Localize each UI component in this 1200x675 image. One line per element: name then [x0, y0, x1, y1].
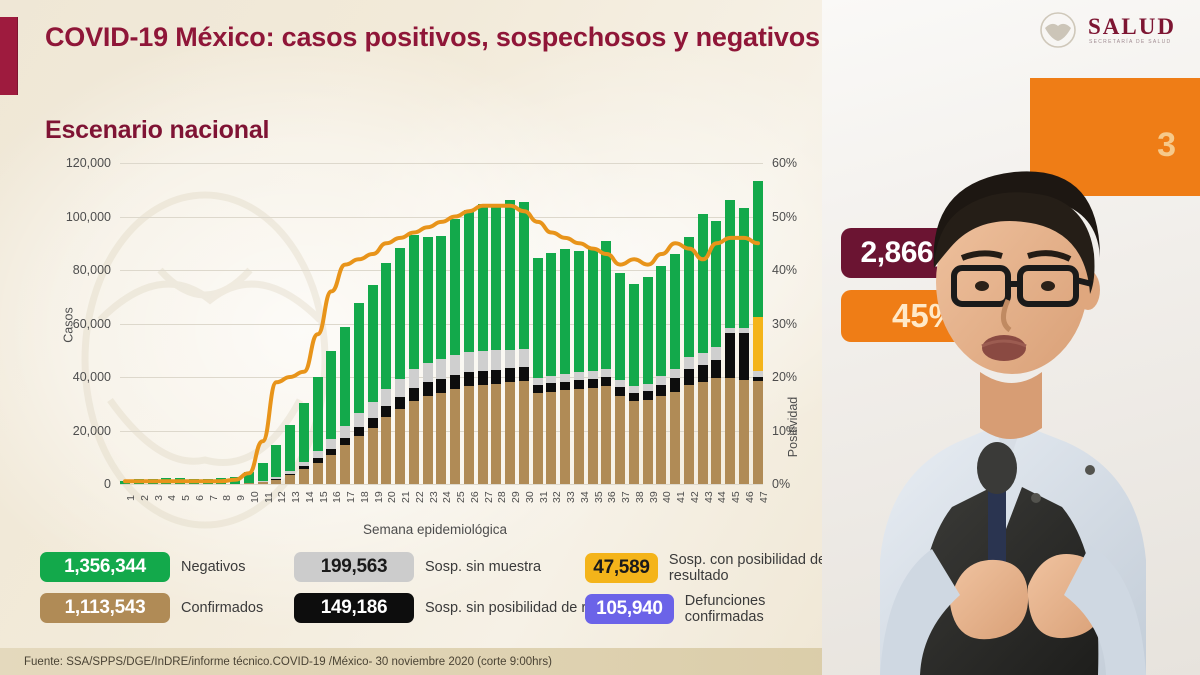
bar-segment	[271, 480, 281, 484]
bar-34	[574, 163, 584, 484]
bar-segment	[478, 204, 488, 351]
bar-segment	[409, 388, 419, 401]
bar-12	[271, 163, 281, 484]
y-tick-label: 120,000	[66, 156, 111, 170]
bar-37	[615, 163, 625, 484]
bar-segment	[629, 393, 639, 401]
legend-label-sosp-con-posibilidad: Sosp. con posibilidad de resultado	[669, 552, 830, 584]
bar-29	[505, 163, 515, 484]
bar-19	[368, 163, 378, 484]
bar-33	[560, 163, 570, 484]
y-tick-label: 100,000	[66, 210, 111, 224]
x-axis-ticks: 1234567891011121314151617181920212223242…	[120, 490, 763, 524]
bar-segment	[546, 376, 556, 383]
bar-46	[739, 163, 749, 484]
bar-segment	[381, 417, 391, 484]
bar-segment	[326, 455, 336, 484]
bar-segment	[670, 378, 680, 391]
bar-segment	[395, 379, 405, 397]
bar-segment	[189, 479, 199, 484]
bar-segment	[711, 378, 721, 484]
bar-segment	[615, 273, 625, 380]
bar-segment	[299, 469, 309, 484]
bar-segment	[588, 388, 598, 484]
y2-tick-label: 60%	[772, 156, 797, 170]
bar-segment	[244, 483, 254, 484]
y-tick-label: 60,000	[73, 317, 111, 331]
bar-32	[546, 163, 556, 484]
bar-segment	[203, 479, 213, 484]
bar-segment	[615, 387, 625, 396]
bar-segment	[340, 426, 350, 438]
bar-11	[258, 163, 268, 484]
bar-segment	[381, 389, 391, 406]
bar-26	[464, 163, 474, 484]
bar-segment	[134, 479, 144, 484]
bar-segment	[711, 347, 721, 360]
bar-segment	[478, 351, 488, 371]
bar-segment	[601, 369, 611, 377]
bar-segment	[230, 477, 240, 484]
bar-segment	[340, 445, 350, 484]
bar-7	[203, 163, 213, 484]
bar-segment	[258, 463, 268, 482]
bar-segment	[161, 478, 171, 484]
bar-segment	[175, 478, 185, 484]
x-axis-title: Semana epidemiológica	[45, 522, 825, 537]
bar-segment	[423, 396, 433, 484]
bar-segment	[285, 425, 295, 470]
y2-tick-label: 20%	[772, 370, 797, 384]
page-title: COVID-19 México: casos positivos, sospec…	[45, 22, 820, 53]
bar-segment	[340, 327, 350, 426]
bar-38	[629, 163, 639, 484]
bar-14	[299, 163, 309, 484]
legend-chip-defunciones: 105,940	[585, 594, 674, 624]
bar-segment	[670, 254, 680, 369]
bar-segment	[354, 413, 364, 427]
bar-segment	[533, 393, 543, 484]
bar-segment	[615, 396, 625, 484]
bar-segment	[519, 381, 529, 484]
bar-series-group	[120, 163, 763, 484]
video-panel: 3 SALUD SECRETARÍA DE SALUD	[822, 0, 1200, 675]
legend-chip-confirmados: 1,113,543	[40, 593, 170, 623]
legend-item-confirmados: 1,113,543 Confirmados	[40, 593, 263, 623]
bar-13	[285, 163, 295, 484]
bar-segment	[574, 372, 584, 379]
bar-segment	[615, 380, 625, 387]
bar-40	[656, 163, 666, 484]
bar-segment	[271, 445, 281, 477]
bar-segment	[464, 386, 474, 484]
bar-5	[175, 163, 185, 484]
bar-segment	[698, 214, 708, 353]
bar-segment	[656, 266, 666, 376]
bar-segment	[244, 472, 254, 483]
bar-segment	[574, 251, 584, 373]
bar-segment	[381, 406, 391, 417]
bar-segment	[519, 367, 529, 381]
bar-segment	[148, 479, 158, 484]
bar-segment	[684, 357, 694, 369]
bar-36	[601, 163, 611, 484]
bar-segment	[574, 389, 584, 484]
bar-43	[698, 163, 708, 484]
bar-39	[643, 163, 653, 484]
bar-segment	[601, 241, 611, 369]
bar-9	[230, 163, 240, 484]
plot-area: 020,00040,00060,00080,000100,000120,000 …	[120, 163, 763, 485]
legend-item-defunciones: 105,940 Defunciones confirmadas	[585, 593, 830, 625]
bar-segment	[643, 400, 653, 484]
bar-segment	[629, 284, 639, 386]
bar-segment	[464, 210, 474, 352]
bar-segment	[395, 397, 405, 409]
presenter-figure	[822, 0, 1200, 675]
bar-segment	[533, 378, 543, 385]
bar-segment	[739, 333, 749, 380]
bar-segment	[684, 369, 694, 385]
y2-tick-label: 30%	[772, 317, 797, 331]
bar-segment	[546, 253, 556, 376]
bar-segment	[491, 384, 501, 484]
bar-segment	[725, 333, 735, 378]
bar-segment	[491, 206, 501, 350]
bar-segment	[216, 478, 226, 484]
bar-segment	[629, 401, 639, 484]
bar-17	[340, 163, 350, 484]
bar-segment	[698, 353, 708, 365]
bar-segment	[601, 377, 611, 386]
bar-segment	[698, 365, 708, 382]
bar-segment	[423, 237, 433, 363]
bar-segment	[464, 372, 474, 386]
bar-24	[436, 163, 446, 484]
bar-segment	[698, 382, 708, 484]
bar-segment	[546, 392, 556, 484]
bar-segment	[478, 385, 488, 484]
bar-22	[409, 163, 419, 484]
legend-label-defunciones: Defunciones confirmadas	[685, 593, 830, 625]
bar-segment	[478, 371, 488, 385]
y2-tick-label: 40%	[772, 263, 797, 277]
left-accent-bar	[0, 17, 18, 95]
bar-segment	[491, 350, 501, 369]
legend-label-negativos: Negativos	[181, 559, 245, 575]
bar-segment	[725, 378, 735, 484]
legend-chip-sosp-sin-posibilidad: 149,186	[294, 593, 414, 623]
bar-35	[588, 163, 598, 484]
bar-2	[134, 163, 144, 484]
footer-source-text: Fuente: SSA/SPPS/DGE/InDRE/informe técni…	[24, 656, 552, 668]
bar-segment	[560, 249, 570, 375]
y2-tick-label: 0%	[772, 477, 790, 491]
slide-background: COVID-19 México: casos positivos, sospec…	[0, 0, 1200, 675]
legend: 1,356,344 Negativos 1,113,543 Confirmado…	[40, 550, 830, 628]
bar-segment	[711, 221, 721, 347]
bar-segment	[588, 248, 598, 371]
bar-segment	[409, 401, 419, 484]
bar-segment	[340, 438, 350, 445]
bar-segment	[505, 368, 515, 382]
bar-segment	[533, 258, 543, 378]
chart: Casos Positividad 020,00040,00060,00080,…	[45, 158, 825, 548]
legend-item-sosp-sin-muestra: 199,563 Sosp. sin muestra	[294, 552, 541, 582]
bar-10	[244, 163, 254, 484]
bar-segment	[656, 376, 666, 385]
y-tick-label: 20,000	[73, 424, 111, 438]
bar-18	[354, 163, 364, 484]
bar-segment	[368, 285, 378, 403]
bar-25	[450, 163, 460, 484]
bar-31	[533, 163, 543, 484]
bar-segment	[711, 360, 721, 379]
bar-segment	[670, 369, 680, 379]
y2-tick-label: 50%	[772, 210, 797, 224]
legend-item-negativos: 1,356,344 Negativos	[40, 552, 245, 582]
bar-segment	[299, 403, 309, 462]
bar-8	[216, 163, 226, 484]
bar-segment	[588, 371, 598, 378]
bar-segment	[533, 385, 543, 393]
bar-15	[313, 163, 323, 484]
bar-segment	[326, 351, 336, 439]
bar-28	[491, 163, 501, 484]
bar-segment	[464, 352, 474, 372]
bar-47	[753, 163, 763, 484]
bar-segment	[368, 428, 378, 484]
bar-segment	[313, 451, 323, 458]
bar-segment	[656, 396, 666, 484]
bar-segment	[753, 381, 763, 484]
bar-segment	[574, 380, 584, 389]
bar-segment	[560, 382, 570, 391]
bar-segment	[505, 350, 515, 369]
bar-segment	[409, 235, 419, 369]
bar-1	[120, 163, 130, 484]
bar-segment	[588, 379, 598, 388]
bar-segment	[684, 237, 694, 357]
bar-16	[326, 163, 336, 484]
bar-segment	[519, 202, 529, 349]
bar-segment	[643, 384, 653, 391]
legend-item-sosp-con-posibilidad: 47,589 Sosp. con posibilidad de resultad…	[585, 552, 830, 584]
bar-segment	[684, 385, 694, 484]
bar-segment	[423, 363, 433, 383]
x-tick-label: 47	[758, 493, 784, 503]
y-tick-label: 80,000	[73, 263, 111, 277]
bar-segment	[560, 374, 570, 381]
bar-segment	[368, 402, 378, 418]
bar-segment	[505, 382, 515, 484]
y-tick-label: 40,000	[73, 370, 111, 384]
y-tick-label: 0	[104, 477, 111, 491]
legend-label-confirmados: Confirmados	[181, 600, 263, 616]
bar-segment	[313, 463, 323, 484]
bar-segment	[656, 385, 666, 396]
bar-segment	[354, 436, 364, 484]
bar-27	[478, 163, 488, 484]
bar-41	[670, 163, 680, 484]
bar-segment	[395, 248, 405, 379]
bar-segment	[450, 389, 460, 484]
bar-segment	[436, 379, 446, 393]
section-subtitle: Escenario nacional	[45, 116, 269, 145]
bar-4	[161, 163, 171, 484]
bar-segment	[368, 418, 378, 428]
bar-segment	[354, 427, 364, 436]
bar-6	[189, 163, 199, 484]
bar-segment	[436, 236, 446, 359]
y2-tick-label: 10%	[772, 424, 797, 438]
bar-segment	[409, 369, 419, 388]
bar-segment	[450, 355, 460, 375]
bar-3	[148, 163, 158, 484]
bar-segment	[491, 370, 501, 384]
bar-45	[725, 163, 735, 484]
bar-30	[519, 163, 529, 484]
bar-segment	[519, 349, 529, 367]
bar-segment	[258, 482, 268, 484]
bar-segment	[643, 277, 653, 384]
bar-segment	[313, 377, 323, 452]
bar-segment	[643, 391, 653, 400]
bar-segment	[436, 393, 446, 484]
bar-segment	[450, 219, 460, 355]
bar-42	[684, 163, 694, 484]
bar-20	[381, 163, 391, 484]
bar-21	[395, 163, 405, 484]
gridline	[120, 484, 763, 485]
bar-44	[711, 163, 721, 484]
bar-segment	[725, 200, 735, 328]
bar-segment	[753, 181, 763, 317]
bar-segment	[739, 208, 749, 328]
bar-segment	[436, 359, 446, 379]
bar-segment	[326, 439, 336, 448]
bar-segment	[285, 475, 295, 484]
bar-segment	[381, 263, 391, 389]
bar-segment	[423, 382, 433, 395]
legend-chip-negativos: 1,356,344	[40, 552, 170, 582]
bar-23	[423, 163, 433, 484]
bar-segment	[753, 317, 763, 371]
bar-segment	[450, 375, 460, 389]
bar-segment	[601, 386, 611, 484]
bar-segment	[395, 409, 405, 484]
bar-segment	[670, 392, 680, 484]
legend-chip-sosp-sin-muestra: 199,563	[294, 552, 414, 582]
bar-segment	[354, 303, 364, 413]
bar-segment	[739, 380, 749, 484]
bar-segment	[505, 200, 515, 350]
legend-chip-sosp-con-posibilidad: 47,589	[585, 553, 658, 583]
bar-segment	[629, 386, 639, 393]
bar-segment	[546, 383, 556, 391]
legend-label-sosp-sin-muestra: Sosp. sin muestra	[425, 559, 541, 575]
bar-segment	[120, 481, 130, 484]
bar-segment	[560, 390, 570, 484]
